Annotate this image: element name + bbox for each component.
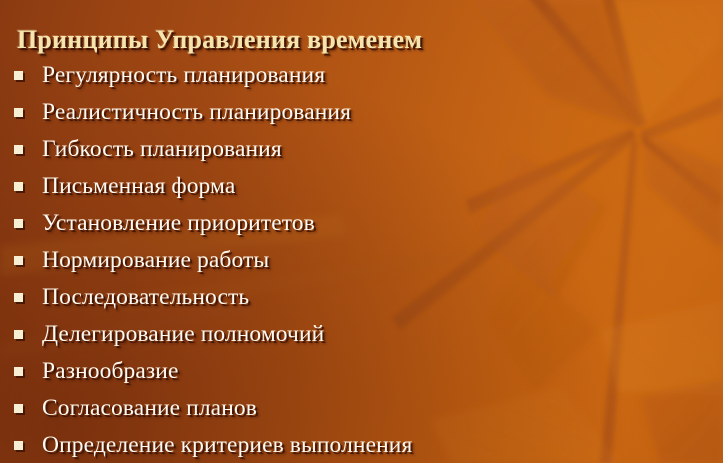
list-item-label: Реалистичность планирования	[42, 99, 351, 125]
list-item: Установление приоритетов	[0, 205, 723, 242]
list-item-label: Разнообразие	[42, 358, 179, 384]
list-item-label: Согласование планов	[42, 395, 257, 421]
bullet-square-icon	[14, 367, 23, 376]
bullet-square-icon	[14, 145, 23, 154]
list-item: Гибкость планирования	[0, 131, 723, 168]
list-item: Разнообразие	[0, 353, 723, 390]
list-item-label: Установление приоритетов	[42, 210, 315, 236]
list-item: Последовательность	[0, 279, 723, 316]
list-item-label: Последовательность	[42, 284, 249, 310]
list-item-label: Письменная форма	[42, 173, 235, 199]
presentation-slide: Принципы Управления временем Регулярност…	[0, 0, 723, 463]
list-item-label: Регулярность планирования	[42, 62, 325, 88]
list-item-label: Нормирование работы	[42, 247, 269, 273]
bullet-square-icon	[14, 108, 23, 117]
bullet-list: Регулярность планирования Реалистичность…	[0, 57, 723, 463]
bullet-square-icon	[14, 256, 23, 265]
list-item-label: Делегирование полномочий	[42, 321, 324, 347]
bullet-square-icon	[14, 404, 23, 413]
bullet-square-icon	[14, 330, 23, 339]
list-item: Регулярность планирования	[0, 57, 723, 94]
bullet-square-icon	[14, 71, 23, 80]
list-item: Письменная форма	[0, 168, 723, 205]
list-item-label: Определение критериев выполнения	[42, 432, 412, 458]
bullet-square-icon	[14, 219, 23, 228]
bullet-square-icon	[14, 293, 23, 302]
list-item: Согласование планов	[0, 390, 723, 427]
slide-title: Принципы Управления временем	[17, 25, 707, 55]
list-item: Реалистичность планирования	[0, 94, 723, 131]
bullet-square-icon	[14, 182, 23, 191]
bullet-square-icon	[14, 441, 23, 450]
list-item: Нормирование работы	[0, 242, 723, 279]
list-item-label: Гибкость планирования	[42, 136, 282, 162]
list-item: Определение критериев выполнения	[0, 427, 723, 463]
list-item: Делегирование полномочий	[0, 316, 723, 353]
